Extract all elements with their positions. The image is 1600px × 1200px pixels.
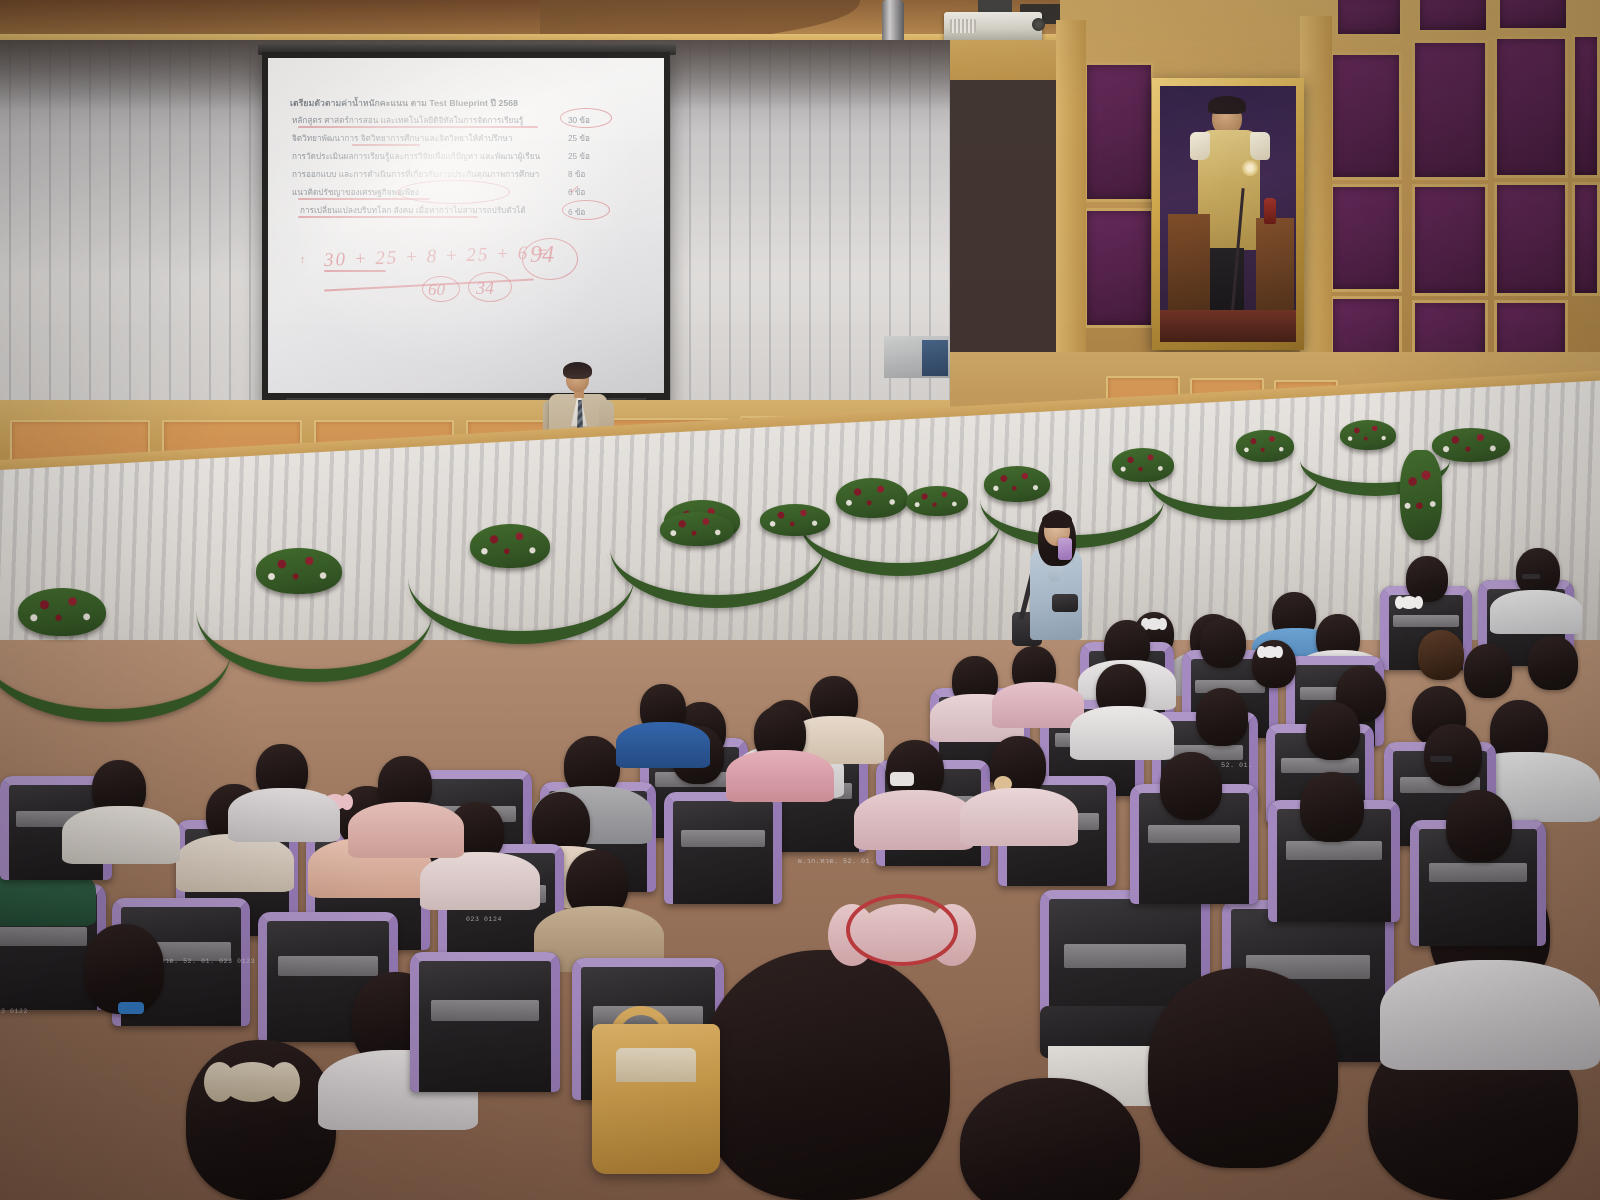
audience-shoulders: [420, 852, 540, 910]
garland-bouquet: [984, 466, 1050, 502]
ink-underline: [324, 270, 386, 272]
audience-head: [1516, 548, 1560, 596]
wall-panel: [1330, 52, 1402, 180]
audience-head: [1464, 644, 1512, 698]
smartphone-icon: [1058, 538, 1072, 560]
projector-lens: [1032, 18, 1045, 31]
audience-head: [1306, 702, 1360, 760]
garland-bouquet: [1432, 428, 1510, 462]
garland-bouquet: [836, 478, 908, 518]
slide-underline: [298, 216, 478, 218]
wall-panel: [1412, 40, 1488, 180]
slide-heading: เตรียมตัวตามค่าน้ำหนักคะแนน ตาม Test Blu…: [290, 96, 518, 110]
garland-bouquet: [1112, 448, 1174, 482]
hair-bow: [1400, 596, 1418, 609]
royal-portrait: [1160, 86, 1296, 342]
slide-score-4: 8 ข้อ: [568, 168, 585, 181]
audience-shoulders: [616, 722, 710, 768]
table-front-bouquet: [760, 504, 830, 536]
speaker-hair: [563, 362, 592, 379]
ink-circle-a: [422, 276, 460, 302]
audience-shoulders: [1490, 590, 1582, 634]
audience-head: [1406, 556, 1448, 602]
wall-panel: [1084, 208, 1154, 328]
ink-circle-1: [560, 108, 612, 128]
audience-head: [1160, 752, 1222, 820]
camera-icon: [1052, 594, 1078, 612]
seat-asset-tag: 023 0122: [0, 1008, 28, 1015]
stage-banner: [922, 340, 948, 376]
wall-pilaster: [1300, 16, 1332, 380]
audience-head: [1424, 724, 1482, 786]
wall-panel: [1572, 34, 1600, 178]
garland-bouquet: [256, 548, 342, 594]
audience-head: [1196, 688, 1248, 746]
wall-panel-upper: [1336, 0, 1402, 36]
hair-bow: [1146, 618, 1162, 630]
wall-panel: [1572, 182, 1600, 296]
auditorium-photo: เตรียมตัวตามค่าน้ำหนักคะแนน ตาม Test Blu…: [0, 0, 1600, 1200]
garland-bouquet: [1340, 420, 1396, 450]
audience-shoulders: [726, 750, 834, 802]
wall-panel: [1330, 184, 1402, 292]
garland-bouquet: [18, 588, 106, 636]
table-front-bouquet: [906, 486, 968, 516]
portrait-medal: [1242, 160, 1258, 176]
table-front-bouquet: [660, 512, 734, 546]
slide-score-3: 25 ข้อ: [568, 150, 590, 163]
slide-score-2: 25 ข้อ: [568, 132, 590, 145]
audience-head: [84, 924, 164, 1014]
garland-bouquet: [1236, 430, 1294, 462]
audience-shoulders: [1380, 960, 1600, 1070]
hair-scrunchie: [846, 894, 958, 966]
audience-head: [1528, 636, 1578, 690]
portrait-side-table: [1256, 218, 1294, 310]
foreground-head: [960, 1078, 1140, 1200]
wall-panel-upper: [1418, 0, 1488, 32]
ink-equation: 30 + 25 + 8 + 25 + 6 =: [324, 242, 551, 272]
projector-vent: [950, 19, 976, 33]
portrait-hair: [1208, 96, 1246, 114]
portrait-vase: [1264, 198, 1276, 224]
ink-check: ✓: [568, 182, 579, 198]
foreground-head: [700, 950, 950, 1200]
audience-head: [1200, 618, 1246, 668]
ceiling-recess: [0, 0, 540, 36]
wall-panel: [1084, 62, 1154, 202]
wall-pilaster: [1056, 20, 1086, 380]
garland-bouquet: [470, 524, 550, 568]
projection-screen: เตรียมตัวตามค่าน้ำหนักคะแนน ตาม Test Blu…: [268, 58, 664, 393]
face-mask-icon: [890, 772, 914, 786]
wall-panel: [1412, 184, 1488, 296]
wall-panel-upper: [1498, 0, 1568, 30]
audience-shoulders: [854, 790, 974, 850]
audience-shoulders: [992, 682, 1084, 728]
ink-arrow-icon: ↑: [300, 254, 306, 266]
audience-shoulders: [1070, 706, 1174, 760]
wall-panel: [1494, 36, 1568, 178]
foreground-head: [1148, 968, 1338, 1168]
slide-underline: [352, 144, 420, 146]
wall-panel: [1494, 182, 1568, 296]
eyeglasses-icon: [1430, 756, 1452, 762]
audience-head: [1418, 630, 1464, 680]
ink-circle-3: [562, 200, 610, 220]
audience-shoulders: [176, 834, 294, 892]
ink-circle-2: [398, 180, 510, 204]
eyeglasses-icon: [1522, 574, 1540, 579]
audience-head: [1300, 772, 1364, 842]
slide-row-4: การออกแบบ และการดำเนินการที่เกี่ยวกับงาน…: [292, 168, 539, 181]
tote-bag: [592, 1024, 720, 1174]
seat-asset-tag: 023 0124: [466, 916, 502, 923]
seat-asset-tag: ผ.วก.ทวด. 52. 01.: [798, 856, 875, 866]
portrait-side-table: [1168, 214, 1210, 310]
audience-shoulders: [62, 806, 180, 864]
audience-head: [1446, 790, 1512, 862]
audience-shoulders: [960, 788, 1078, 846]
slide-underline: [298, 126, 538, 128]
hair-tie: [118, 1002, 144, 1014]
podium-garland: [1400, 450, 1442, 540]
auditorium-seat: [410, 952, 560, 1092]
photographer-bangs: [1042, 512, 1072, 528]
portrait-epaulette: [1190, 132, 1210, 160]
portrait-floor: [1160, 310, 1296, 342]
auditorium-seat: [664, 792, 782, 904]
hair-bow: [1262, 646, 1278, 658]
slide-row-3: การวัดประเมินผลการเรียนรู้และการวิจัยเพื…: [292, 150, 540, 163]
tote-bag-opening: [616, 1048, 696, 1082]
ink-circle-b: [468, 272, 512, 302]
hair-bow: [222, 1062, 282, 1102]
portrait-epaulette: [1250, 132, 1270, 160]
audience-shoulders: [228, 788, 340, 842]
ink-circle-total: [522, 238, 578, 280]
audience-shoulders: [348, 802, 464, 858]
